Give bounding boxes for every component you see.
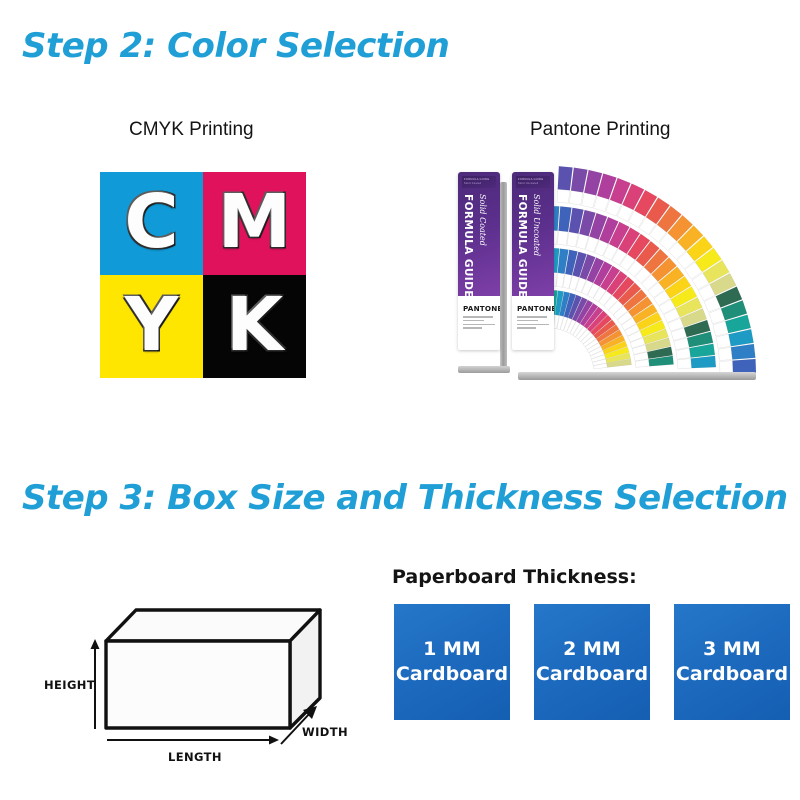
cmyk-cell-magenta[interactable]: M (203, 172, 306, 275)
deck-base-bar-left (458, 366, 510, 373)
cmyk-printing-label: CMYK Printing (129, 119, 254, 141)
cmyk-cell-yellow[interactable]: Y (100, 275, 203, 378)
cmyk-cell-black[interactable]: K (203, 275, 306, 378)
thickness-material-2mm: Cardboard (536, 664, 648, 685)
deck-spine-left (500, 182, 507, 372)
paperboard-thickness-title: Paperboard Thickness: (392, 566, 637, 588)
formula-guide-solid-uncoated[interactable]: FORMULA GUIDE Solid Uncoated FORMULA GUI… (512, 172, 554, 350)
thickness-material-3mm: Cardboard (676, 664, 788, 685)
thickness-material-1mm: Cardboard (396, 664, 508, 685)
thickness-size-1mm: 1 MM (423, 639, 481, 660)
box-dimensions-diagram: HEIGHT LENGTH WIDTH (28, 578, 368, 773)
thickness-card-1mm[interactable]: 1 MM Cardboard (394, 604, 510, 720)
height-label: HEIGHT (44, 678, 95, 692)
guide-title-uncoated: FORMULA GUIDE (516, 194, 528, 294)
box-shape (106, 610, 320, 728)
cmyk-letter-y: Y (125, 288, 179, 362)
guide-cover-uncoated: FORMULA GUIDE Solid Uncoated FORMULA GUI… (512, 172, 554, 296)
pantone-printing-label: Pantone Printing (530, 119, 671, 141)
pantone-fan-deck-image[interactable]: FORMULA GUIDE Solid Coated FORMULA GUIDE… (448, 160, 758, 392)
cmyk-letter-c: C (124, 185, 178, 259)
cmyk-color-swatch[interactable]: C M Y K (100, 172, 306, 378)
guide-cover-coated: FORMULA GUIDE Solid Coated FORMULA GUIDE… (458, 172, 500, 296)
cmyk-letter-m: M (218, 185, 292, 259)
step-2-heading: Step 2: Color Selection (22, 26, 449, 66)
thickness-size-3mm: 3 MM (703, 639, 761, 660)
cmyk-letter-k: K (226, 288, 283, 362)
guide-micro-title-uncoated: FORMULA GUIDE (518, 178, 543, 181)
guide-subtitle-uncoated: Solid Uncoated (532, 194, 541, 294)
length-arrow (107, 736, 279, 745)
deck-base-bar-main (518, 372, 756, 380)
pantone-brand-uncoated: PANTONE (517, 304, 554, 313)
guide-title-coated: FORMULA GUIDE (462, 194, 474, 294)
thickness-card-2mm[interactable]: 2 MM Cardboard (534, 604, 650, 720)
guide-micro-subtitle-uncoated: Solid Uncoated (518, 182, 538, 185)
width-label: WIDTH (302, 725, 348, 739)
guide-fineprint-uncoated (517, 316, 551, 331)
pantone-brand-coated: PANTONE (463, 304, 500, 313)
guide-subtitle-coated: Solid Coated (478, 194, 487, 294)
guide-micro-subtitle-coated: Solid Coated (464, 182, 481, 185)
step-3-heading: Step 3: Box Size and Thickness Selection (22, 478, 788, 518)
cmyk-cell-cyan[interactable]: C (100, 172, 203, 275)
length-label: LENGTH (168, 750, 222, 764)
paperboard-thickness-options: 1 MM Cardboard 2 MM Cardboard 3 MM Cardb… (394, 604, 800, 720)
formula-guide-solid-coated[interactable]: FORMULA GUIDE Solid Coated FORMULA GUIDE… (458, 172, 500, 350)
guide-micro-title-coated: FORMULA GUIDE (464, 178, 489, 181)
box-front-face (106, 641, 290, 728)
thickness-size-2mm: 2 MM (563, 639, 621, 660)
guide-fineprint-coated (463, 316, 497, 331)
thickness-card-3mm[interactable]: 3 MM Cardboard (674, 604, 790, 720)
box-top-face (106, 610, 320, 641)
